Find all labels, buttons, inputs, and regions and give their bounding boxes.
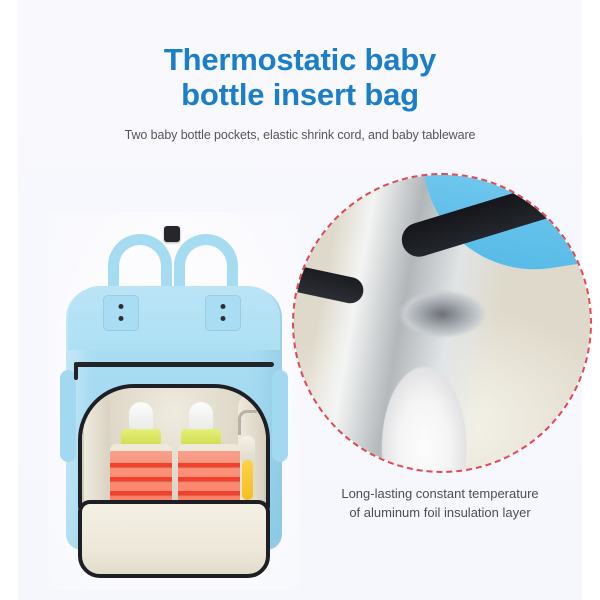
bottle-nipple (129, 402, 153, 432)
rivet-icon (119, 316, 124, 321)
elastic-cord (178, 491, 240, 495)
inset-caption: Long-lasting constant temperature of alu… (292, 484, 588, 522)
header: Thermostatic baby bottle insert bag Two … (0, 42, 600, 142)
handle-clip (164, 226, 180, 242)
rivet-icon (221, 304, 226, 309)
elastic-cord (178, 477, 240, 481)
elastic-bottle-pocket (178, 444, 240, 506)
page-title-line-2: bottle insert bag (181, 77, 419, 112)
product-marketing-banner: Thermostatic baby bottle insert bag Two … (0, 0, 600, 600)
bottle-nipple (189, 402, 213, 432)
bag-side-pocket-right (272, 370, 288, 462)
insulation-detail-photo (294, 175, 590, 471)
page-title: Thermostatic baby bottle insert bag (0, 42, 600, 112)
bag-bottom-flap (78, 500, 270, 578)
elastic-cord (110, 477, 172, 481)
bag-open-compartment (78, 384, 270, 516)
bag-side-pocket-left (60, 370, 76, 462)
hook-icon (238, 410, 257, 435)
page-subtitle: Two baby bottle pockets, elastic shrink … (0, 128, 600, 142)
baby-utensil (242, 460, 253, 500)
elastic-cord (110, 491, 172, 495)
bag-zipper (76, 362, 274, 367)
bag-tab-left (104, 296, 138, 330)
elastic-cord (178, 463, 240, 467)
page-title-line-1: Thermostatic baby (164, 42, 436, 77)
product-photo (48, 212, 300, 590)
zipper-pull-icon (74, 362, 78, 380)
bag-tab-right (206, 296, 240, 330)
rivet-icon (119, 304, 124, 309)
liner-wall-left (84, 394, 110, 512)
inset-caption-line-2: of aluminum foil insulation layer (349, 505, 530, 520)
inset-caption-line-1: Long-lasting constant temperature (341, 486, 538, 501)
rivet-icon (221, 316, 226, 321)
elastic-bottle-pocket (110, 444, 172, 506)
elastic-cord (110, 463, 172, 467)
bag-top-panel (68, 286, 280, 350)
